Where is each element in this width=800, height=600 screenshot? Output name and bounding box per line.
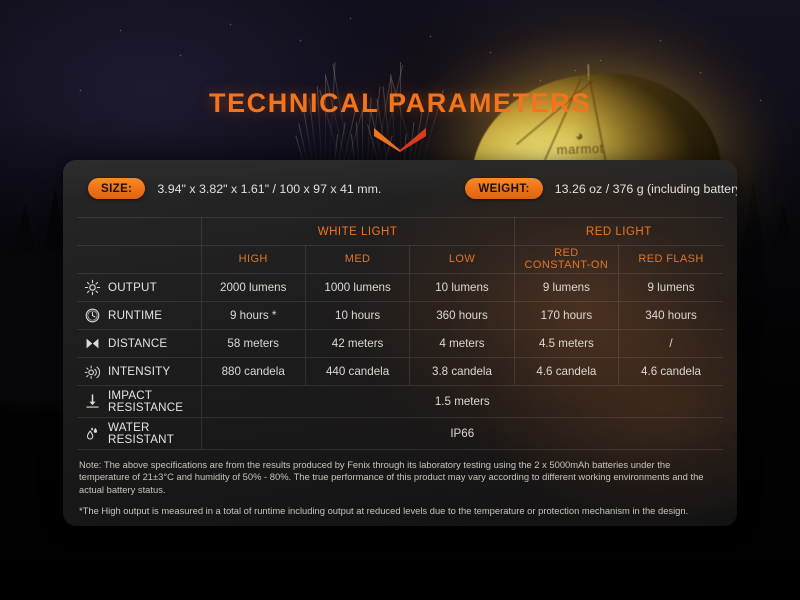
sun-icon: [83, 279, 101, 297]
clock-icon: [83, 307, 101, 325]
cell-output-med: 1000 lumens: [305, 274, 409, 302]
cell-runtime-red-constant: 170 hours: [514, 302, 618, 330]
cell-output-red-constant: 9 lumens: [514, 274, 618, 302]
row-label-wrap: WATER RESISTANT: [77, 422, 201, 445]
row-label-wrap: OUTPUT: [77, 279, 201, 297]
notes-divider: [77, 449, 723, 450]
mode-header-low: LOW: [410, 246, 514, 274]
row-label-wrap: INTENSITY: [77, 363, 201, 381]
spec-strip: SIZE: 3.94" x 3.82" x 1.61" / 100 x 97 x…: [63, 160, 737, 217]
cell-distance-low: 4 meters: [410, 330, 514, 358]
star: [430, 36, 431, 37]
cell-runtime-red-flash: 340 hours: [619, 302, 723, 330]
row-label-text-wrap: WATER RESISTANT: [108, 422, 174, 445]
row-label-text: WATER: [108, 421, 150, 434]
cell-distance-red-constant: 4.5 meters: [514, 330, 618, 358]
cell-output-low: 10 lumens: [410, 274, 514, 302]
group-header-white-light: WHITE LIGHT: [201, 218, 514, 246]
star: [120, 30, 121, 31]
table-row: IMPACT RESISTANCE 1.5 meters: [77, 386, 723, 418]
mode-header-red-line2: CONSTANT-ON: [525, 259, 609, 271]
star: [575, 70, 576, 71]
table-row: INTENSITY 880 candela 440 candela 3.8 ca…: [77, 358, 723, 386]
row-label-text-line2: RESISTANCE: [108, 402, 183, 414]
star: [300, 40, 301, 41]
cell-intensity-med: 440 candela: [305, 358, 409, 386]
cell-distance-med: 42 meters: [305, 330, 409, 358]
parameters-table: WHITE LIGHT RED LIGHT HIGH MED LOW RED C…: [77, 217, 723, 449]
tent-brand-logo: ◕ marmot: [556, 130, 604, 158]
table-row: RUNTIME 9 hours * 10 hours 360 hours 170…: [77, 302, 723, 330]
beam-distance-icon: [83, 335, 101, 353]
cell-impact-resistance-value: 1.5 meters: [201, 386, 723, 418]
row-label-intensity: INTENSITY: [77, 358, 201, 386]
tree-silhouette: [742, 180, 764, 250]
row-label-wrap: DISTANCE: [77, 335, 201, 353]
water-drop-icon: [83, 425, 101, 443]
cell-output-high: 2000 lumens: [201, 274, 305, 302]
scene-background: ◕ marmot TECHNICAL PARAMETERS SIZE: 3.94…: [0, 0, 800, 600]
tent-logo-text: marmot: [556, 141, 604, 158]
row-label-text: OUTPUT: [108, 282, 157, 294]
row-label-text: DISTANCE: [108, 338, 167, 350]
impact-arrow-icon: [83, 393, 101, 411]
row-label-output: OUTPUT: [77, 274, 201, 302]
star: [490, 52, 491, 53]
star: [350, 18, 351, 19]
mode-header-red-flash: RED FLASH: [619, 246, 723, 274]
weight-value: 13.26 oz / 376 g (including battery).: [555, 182, 737, 196]
row-label-text-wrap: IMPACT RESISTANCE: [108, 390, 183, 413]
row-label-distance: DISTANCE: [77, 330, 201, 358]
star: [180, 55, 181, 56]
table-row: WATER RESISTANT IP66: [77, 418, 723, 450]
cell-runtime-med: 10 hours: [305, 302, 409, 330]
cell-intensity-high: 880 candela: [201, 358, 305, 386]
tree-silhouette: [772, 204, 794, 250]
star: [540, 80, 541, 81]
row-label-wrap: RUNTIME: [77, 307, 201, 325]
row-label-text: RUNTIME: [108, 310, 162, 322]
note-main: Note: The above specifications are from …: [79, 459, 721, 496]
tech-parameters-panel: SIZE: 3.94" x 3.82" x 1.61" / 100 x 97 x…: [63, 160, 737, 526]
size-badge: SIZE:: [88, 178, 145, 199]
star: [230, 24, 231, 25]
cell-distance-high: 58 meters: [201, 330, 305, 358]
cell-intensity-red-flash: 4.6 candela: [619, 358, 723, 386]
mode-header-high: HIGH: [201, 246, 305, 274]
size-spec: SIZE: 3.94" x 3.82" x 1.61" / 100 x 97 x…: [88, 178, 381, 199]
group-header-red-light: RED LIGHT: [514, 218, 723, 246]
table-row: DISTANCE 58 meters 42 meters 4 meters 4.…: [77, 330, 723, 358]
row-label-impact-resistance: IMPACT RESISTANCE: [77, 386, 201, 418]
cell-intensity-red-constant: 4.6 candela: [514, 358, 618, 386]
cell-distance-red-flash: /: [619, 330, 723, 358]
row-label-text: INTENSITY: [108, 366, 170, 378]
row-label-wrap: IMPACT RESISTANCE: [77, 390, 201, 413]
page-title: TECHNICAL PARAMETERS: [0, 88, 800, 119]
star: [600, 60, 601, 61]
cell-runtime-high: 9 hours *: [201, 302, 305, 330]
table-group-header-row: WHITE LIGHT RED LIGHT: [77, 218, 723, 246]
note-asterisk: *The High output is measured in a total …: [79, 505, 721, 517]
cell-water-resistant-value: IP66: [201, 418, 723, 450]
star: [700, 72, 701, 73]
mode-header-red-constant-on: RED CONSTANT-ON: [514, 246, 618, 274]
mode-header-med: MED: [305, 246, 409, 274]
row-label-runtime: RUNTIME: [77, 302, 201, 330]
cell-output-red-flash: 9 lumens: [619, 274, 723, 302]
chevron-down-icon: [372, 126, 428, 152]
cell-runtime-low: 360 hours: [410, 302, 514, 330]
star: [660, 40, 661, 41]
table-row: OUTPUT 2000 lumens 1000 lumens 10 lumens…: [77, 274, 723, 302]
size-value: 3.94" x 3.82" x 1.61" / 100 x 97 x 41 mm…: [157, 182, 381, 196]
mode-header-spacer: [77, 246, 201, 274]
weight-badge: WEIGHT:: [465, 178, 542, 199]
intensity-icon: [83, 363, 101, 381]
mode-header-red-line1: RED: [554, 247, 578, 259]
row-label-text-line2: RESISTANT: [108, 434, 174, 446]
table-mode-header-row: HIGH MED LOW RED CONSTANT-ON RED FLASH: [77, 246, 723, 274]
group-header-spacer: [77, 218, 201, 246]
cell-intensity-low: 3.8 candela: [410, 358, 514, 386]
row-label-water-resistant: WATER RESISTANT: [77, 418, 201, 450]
weight-spec: WEIGHT: 13.26 oz / 376 g (including batt…: [465, 178, 737, 199]
row-label-text: IMPACT: [108, 389, 152, 402]
tree-silhouette: [14, 204, 36, 250]
